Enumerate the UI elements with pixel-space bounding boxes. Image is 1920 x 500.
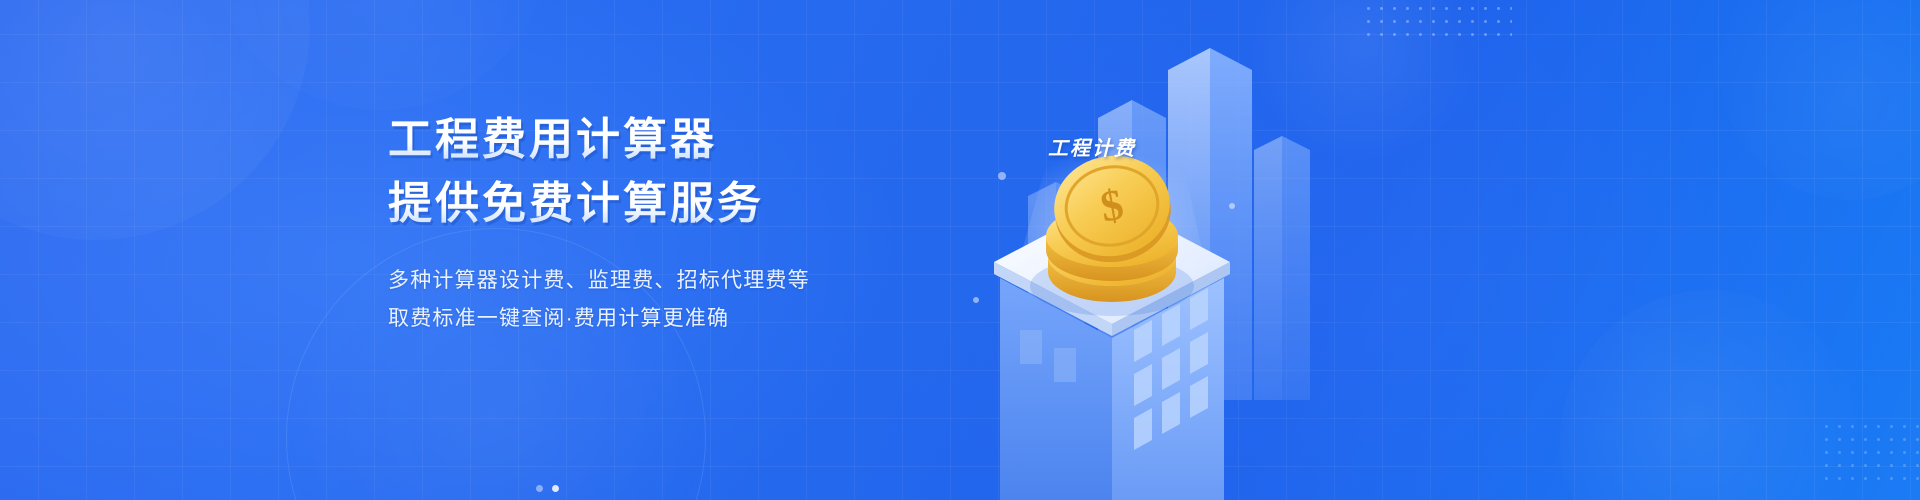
banner-headline-line1: 工程费用计算器 <box>388 112 810 168</box>
pagination-dot[interactable] <box>536 485 543 492</box>
pagination-dot-active[interactable] <box>552 485 559 492</box>
banner-subtitle-line1: 多种计算器设计费、监理费、招标代理费等 <box>388 262 810 300</box>
banner-illustration: $ 工程计费 <box>880 0 1400 500</box>
hero-banner: 工程费用计算器 提供免费计算服务 多种计算器设计费、监理费、招标代理费等 取费标… <box>0 0 1920 500</box>
banner-text-block: 工程费用计算器 提供免费计算服务 多种计算器设计费、监理费、招标代理费等 取费标… <box>388 112 810 338</box>
dot-pattern <box>1820 420 1920 482</box>
carousel-pagination[interactable] <box>536 485 559 492</box>
isometric-city-illustration: $ <box>880 0 1400 500</box>
coin-badge-label: 工程计费 <box>1048 132 1136 161</box>
banner-subtitle-line2: 取费标准一键查阅·费用计算更准确 <box>388 300 810 338</box>
banner-headline-line2: 提供免费计算服务 <box>388 176 810 232</box>
